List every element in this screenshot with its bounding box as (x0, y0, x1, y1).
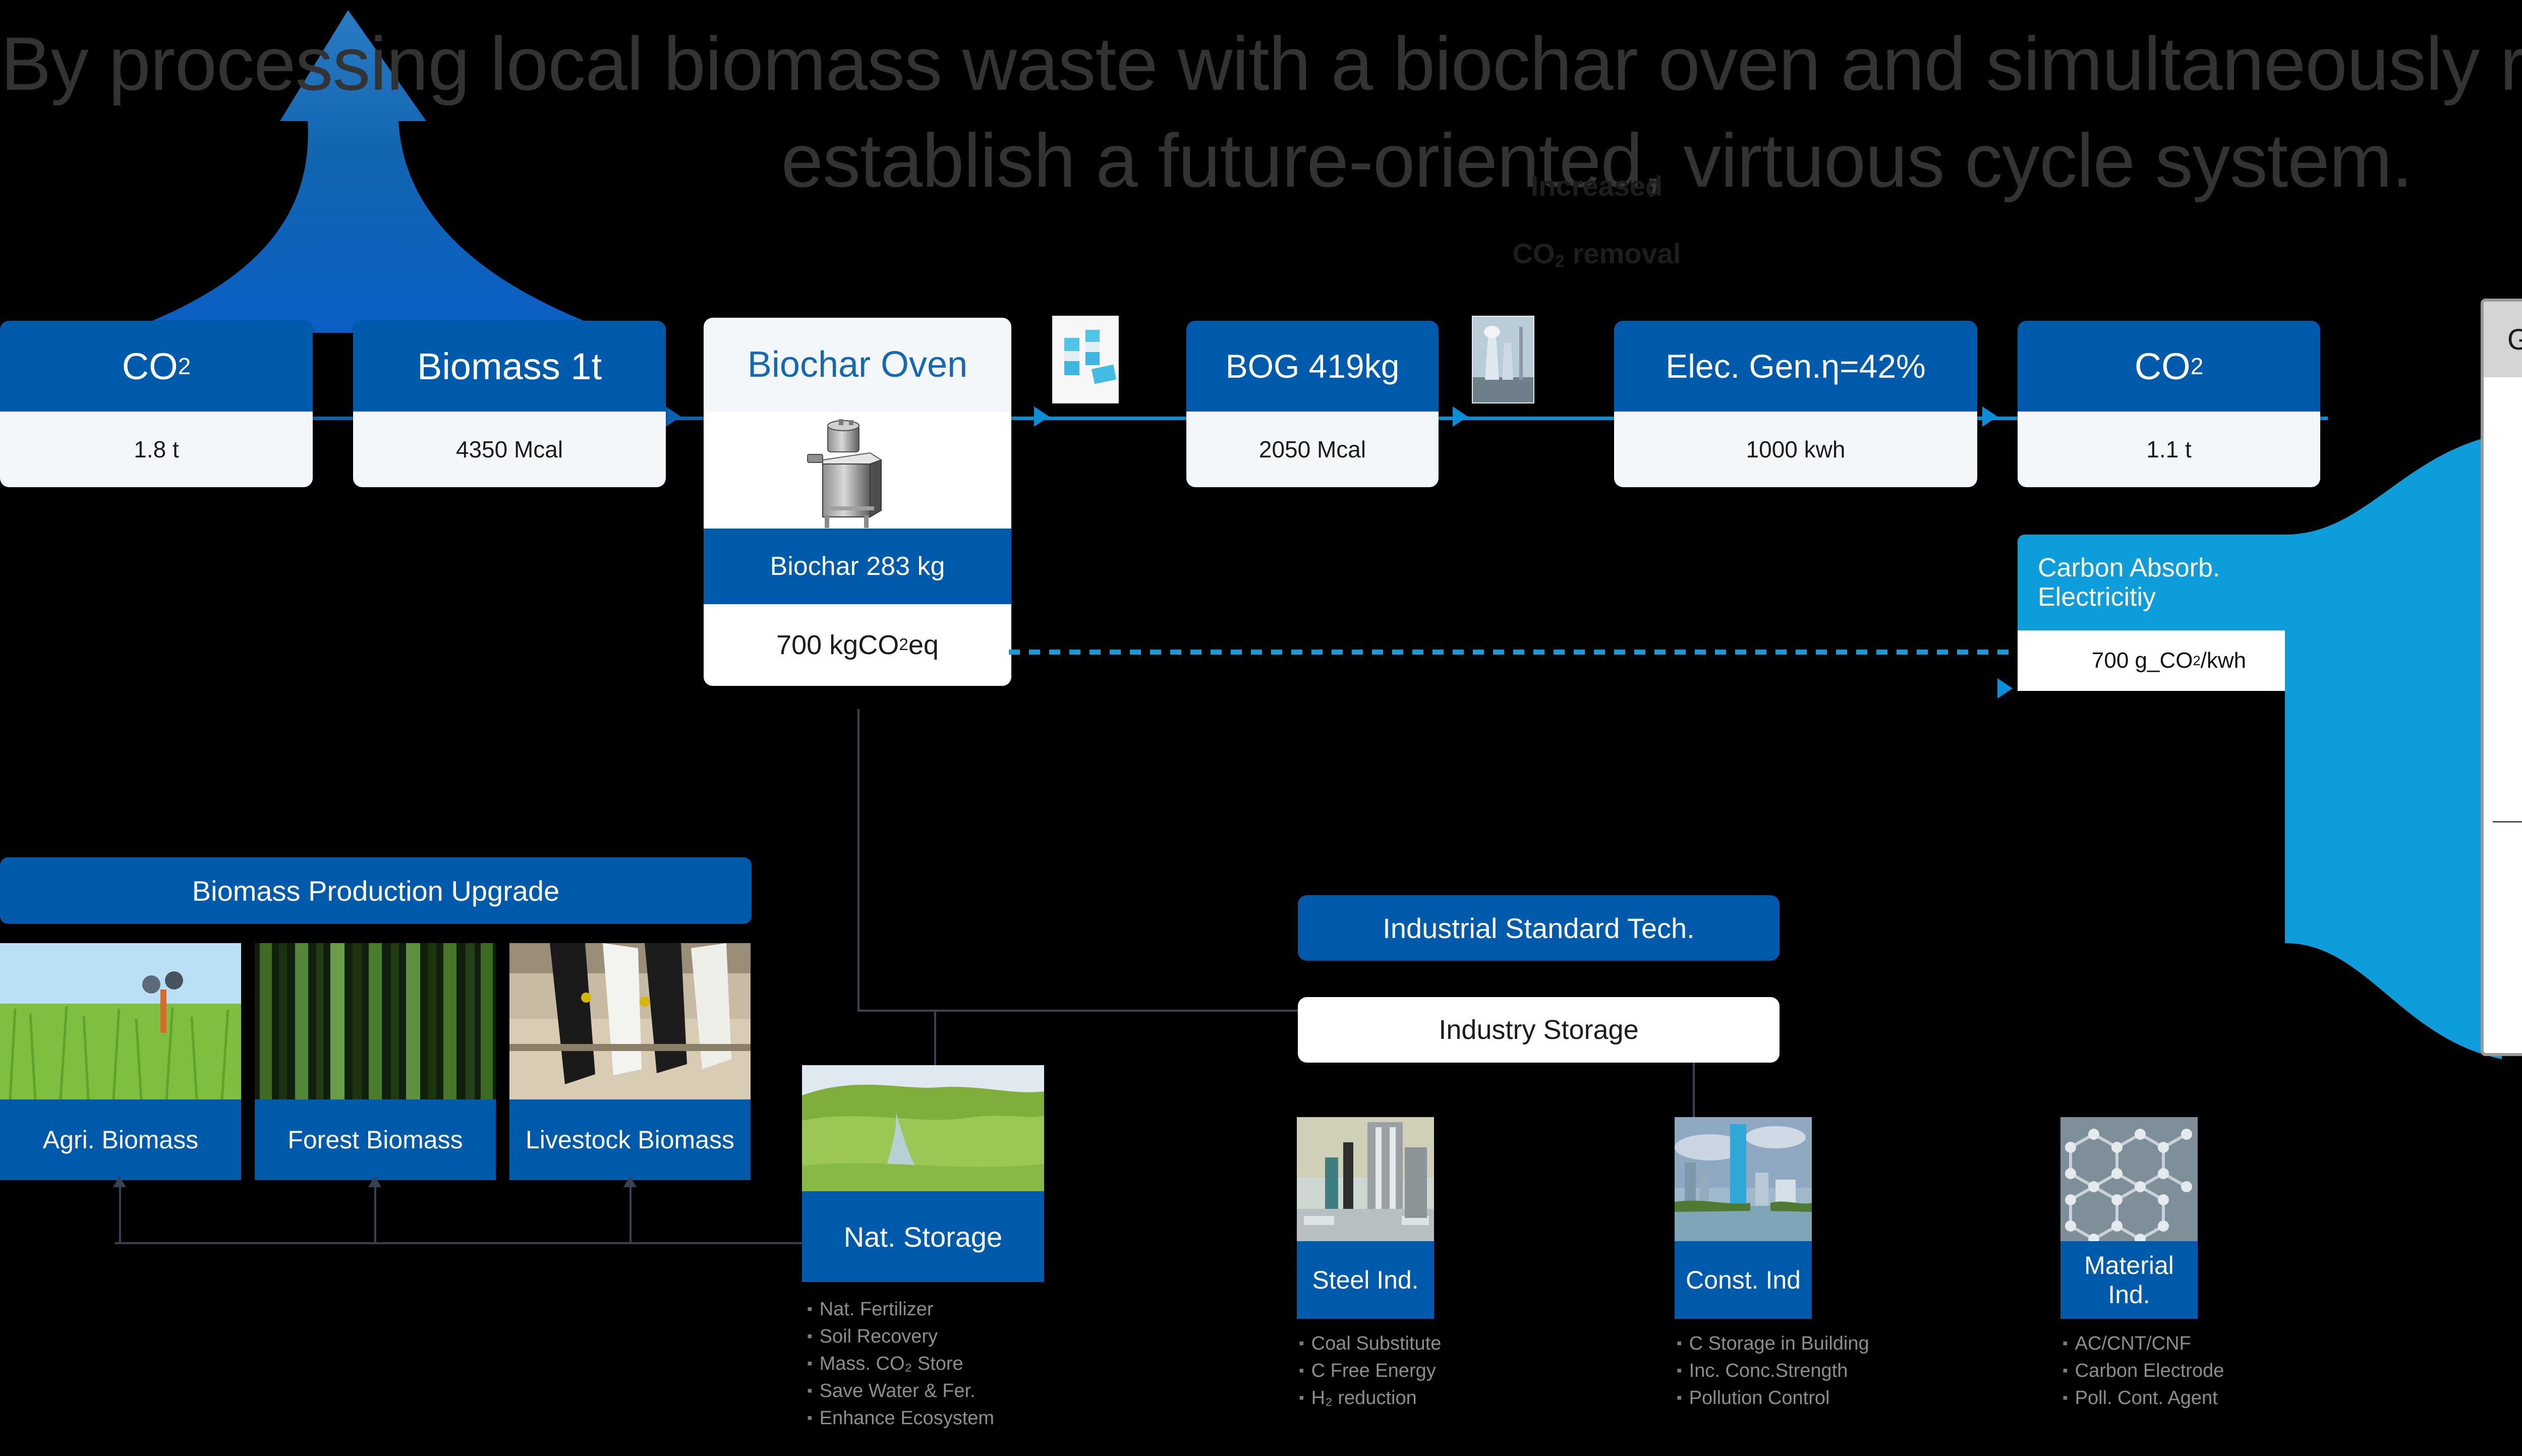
oven-illustration (704, 412, 1011, 529)
forest-biomass-photo (255, 943, 496, 1099)
list-item: ▪Poll. Cont. Agent (2062, 1385, 2224, 1412)
flow-card-value: 4350 Mcal (353, 412, 666, 487)
flow-card-title: Elec. Gen.η=42% (1614, 321, 1977, 412)
carbon-absorb-value: 700 g_CO2/kwh (2018, 630, 2320, 691)
biomass-branch-forest (374, 1183, 376, 1243)
livestock-biomass-photo (509, 943, 751, 1099)
flow-card-value: 1.1 t (2018, 412, 2320, 487)
chart-plot-area: 820 490 48 12 12 11 BOG – 700 Coal NG PV… (2484, 377, 2522, 1043)
industrial-standard-tech-box[interactable]: Industrial Standard Tech. (1298, 895, 1780, 961)
list-item: ▪Enhance Ecosystem (807, 1405, 994, 1432)
industry-card-steel[interactable]: Steel Ind. (1297, 1117, 1434, 1319)
const-ind-photo (1675, 1117, 1812, 1241)
nat-storage-bullets: ▪Nat. Fertilizer ▪Soil Recovery ▪Mass. C… (807, 1296, 994, 1432)
biomass-card-label: Agri. Biomass (0, 1099, 241, 1180)
carbon-absorb-card[interactable]: Carbon Absorb. Electricitiy 700 g_CO2/kw… (2018, 535, 2320, 691)
agri-biomass-photo (0, 943, 241, 1099)
list-item: ▪Mass. CO₂ Store (807, 1351, 994, 1378)
flow-card-title: CO2 (0, 321, 313, 412)
flow-card-biochar-oven[interactable]: Biochar Oven Biochar 283 kg 700 kgCO2eq (704, 318, 1011, 686)
list-item: ▪AC/CNT/CNF (2062, 1330, 2224, 1358)
biochar-pellets-photo (1052, 316, 1119, 403)
flow-card-bog[interactable]: BOG 419kg 2050 Mcal (1186, 321, 1439, 487)
flow-card-value: 1.8 t (0, 412, 313, 487)
industry-card-label: Material Ind. (2060, 1241, 2198, 1319)
material-ind-bullets: ▪AC/CNT/CNF ▪Carbon Electrode ▪Poll. Con… (2062, 1330, 2224, 1412)
industry-storage-box[interactable]: Industry Storage (1298, 997, 1780, 1063)
steel-ind-bullets: ▪Coal Substitute ▪C Free Energy ▪H₂ redu… (1299, 1330, 1441, 1412)
up-arrow-icon (113, 1176, 126, 1187)
list-item: ▪Save Water & Fer. (807, 1378, 994, 1405)
industry-card-label: Steel Ind. (1297, 1241, 1434, 1319)
list-item: ▪C Storage in Building (1677, 1330, 1869, 1358)
chevron-right-icon (1997, 678, 2013, 698)
biomass-production-upgrade-banner[interactable]: Biomass Production Upgrade (0, 857, 752, 924)
nat-storage-label: Nat. Storage (802, 1191, 1044, 1282)
const-ind-bullets: ▪C Storage in Building ▪Inc. Conc.Streng… (1677, 1330, 1869, 1412)
flow-card-title: BOG 419kg (1186, 321, 1439, 412)
chart-title: GHG emission of elec. Energy by LCA (gCO… (2484, 302, 2522, 377)
biomass-card-agri[interactable]: Agri. Biomass (0, 943, 241, 1180)
material-ind-photo (2060, 1117, 2198, 1241)
chevron-right-icon (666, 406, 681, 427)
biomass-card-label: Livestock Biomass (509, 1099, 751, 1180)
chevron-right-icon (1453, 406, 1468, 427)
nat-storage-photo (802, 1065, 1044, 1191)
flow-card-co2-output[interactable]: CO2 1.1 t (2018, 321, 2320, 487)
list-item: ▪Nat. Fertilizer (807, 1296, 994, 1323)
biomass-card-forest[interactable]: Forest Biomass (255, 943, 496, 1180)
list-item: ▪C Free Energy (1299, 1358, 1441, 1385)
chevron-right-icon (1982, 406, 1997, 427)
flow-card-title: Biomass 1t (353, 321, 666, 412)
dotted-link-biochar-to-carbon (1009, 650, 2023, 655)
flow-card-co2-input[interactable]: CO2 1.8 t (0, 321, 313, 487)
industry-card-label: Const. Ind (1675, 1241, 1812, 1319)
carbon-absorb-title: Carbon Absorb. Electricitiy (2018, 535, 2320, 630)
up-arrow-icon (623, 1176, 637, 1187)
list-item: ▪Inc. Conc.Strength (1677, 1358, 1869, 1385)
industry-card-material[interactable]: Material Ind. (2060, 1117, 2198, 1319)
chevron-right-icon (1034, 406, 1049, 427)
arrow-label-line2: CO2 removal (0, 237, 2522, 272)
flow-card-elec-gen[interactable]: Elec. Gen.η=42% 1000 kwh (1614, 321, 1977, 487)
list-item: ▪Soil Recovery (807, 1323, 994, 1351)
oven-down-stroke (857, 709, 859, 1012)
biomass-bracket (115, 1242, 902, 1244)
power-plant-photo (1472, 316, 1534, 403)
flow-card-value: 2050 Mcal (1186, 412, 1439, 487)
flow-card-value: 1000 kwh (1614, 412, 1977, 487)
flow-card-biomass[interactable]: Biomass 1t 4350 Mcal (353, 321, 666, 487)
biomass-card-livestock[interactable]: Livestock Biomass (509, 943, 751, 1180)
flow-card-title: CO2 (2018, 321, 2320, 412)
ghg-chart-panel[interactable]: GHG emission of elec. Energy by LCA (gCO… (2481, 299, 2522, 1056)
steel-ind-photo (1297, 1117, 1434, 1241)
flow-card-title: Biochar Oven (704, 318, 1011, 412)
biomass-branch-agri (119, 1183, 121, 1243)
biochar-co2eq-value: 700 kgCO2eq (704, 604, 1011, 686)
list-item: ▪Pollution Control (1677, 1385, 1869, 1412)
chart-zero-axis (2493, 821, 2522, 823)
arrow-label-line1: Increased (0, 169, 2522, 202)
list-item: ▪Carbon Electrode (2062, 1358, 2224, 1385)
list-item: ▪Coal Substitute (1299, 1330, 1441, 1358)
nat-storage-card[interactable]: Nat. Storage (802, 1065, 1044, 1282)
up-arrow-icon (368, 1176, 381, 1187)
list-item: ▪H₂ reduction (1299, 1385, 1441, 1412)
biomass-card-label: Forest Biomass (255, 1099, 496, 1180)
biochar-yield-band: Biochar 283 kg (704, 529, 1011, 604)
biomass-branch-livestock (629, 1183, 632, 1243)
industry-card-const[interactable]: Const. Ind (1675, 1117, 1812, 1319)
callout-funnel (2285, 434, 2502, 1059)
